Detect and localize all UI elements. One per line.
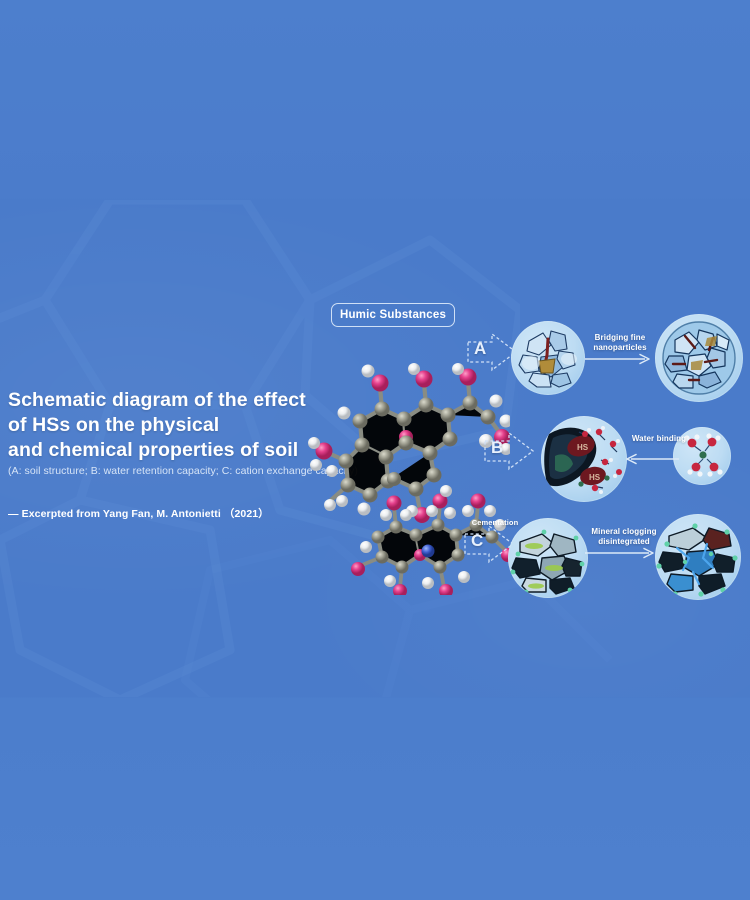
annotation-bridging: Bridging fine nanoparticles (580, 333, 660, 353)
annotation-mineral-clogging: Mineral clogging disintegrated (578, 527, 670, 547)
annotation-bridging-line-2: nanoparticles (593, 343, 646, 352)
cementation-label: Cementation (465, 518, 525, 528)
panel-b-hs-water: HS HS (541, 416, 627, 502)
headline-line-3: and chemical properties of soil (8, 438, 338, 463)
annotation-water-binding-line-1: Water binding (632, 434, 686, 443)
clay-particle-cluster-icon (511, 321, 585, 395)
annotation-water-binding: Water binding (622, 434, 696, 444)
hs-badge-2: HS (589, 473, 601, 482)
stage-letter-a: A (474, 339, 486, 359)
connector-arrow-c-icon (585, 546, 659, 560)
annotation-bridging-line-1: Bridging fine (595, 333, 646, 342)
hs-badge-1: HS (577, 443, 589, 452)
poster-canvas: Schematic diagram of the effect of HSs o… (0, 0, 750, 900)
nitrogen-atom (422, 545, 435, 558)
stage-letter-c: C (471, 531, 483, 551)
headline-line-1: Schematic diagram of the effect (8, 388, 338, 413)
panel-a-after (655, 314, 743, 402)
humic-water-binding-icon: HS HS (541, 416, 627, 502)
panel-a-before (511, 321, 585, 395)
connector-arrow-a-icon (585, 352, 655, 366)
stage-letter-b: B (491, 438, 503, 458)
source-credit: — Excerpted from Yang Fan, M. Antonietti… (8, 506, 269, 521)
annotation-mineral-clogging-line-2: disintegrated (598, 537, 650, 546)
cemented-mineral-icon (508, 518, 588, 598)
headline-line-2: of HSs on the physical (8, 413, 338, 438)
humic-substances-badge: Humic Substances (331, 303, 455, 327)
panel-c-before (508, 518, 588, 598)
stage-arrow-c: C (463, 524, 515, 569)
annotation-mineral-clogging-line-1: Mineral clogging (591, 527, 656, 536)
page-title: Schematic diagram of the effect of HSs o… (8, 388, 338, 463)
bridged-aggregate-icon (655, 314, 743, 402)
stage-arrow-b: B (483, 431, 535, 476)
connector-arrow-b-icon (625, 452, 679, 466)
humic-substances-label: Humic Substances (340, 309, 446, 321)
